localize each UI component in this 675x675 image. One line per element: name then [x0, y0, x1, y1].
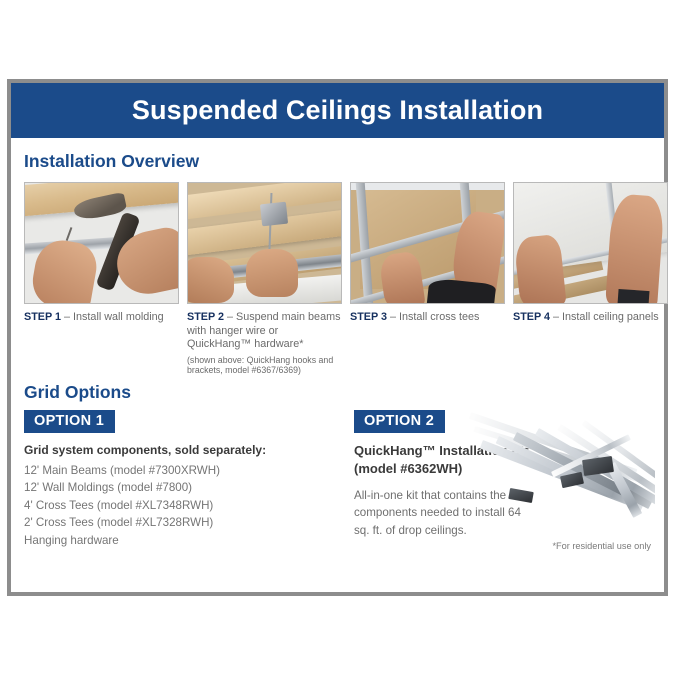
option-2-column: OPTION 2 QuickHang™ Installation Kit (mo… [354, 410, 651, 550]
step-2-dash: – [224, 311, 236, 323]
step-4-caption: STEP 4 – Install ceiling panels [513, 311, 668, 325]
step-column-4: STEP 4 – Install ceiling panels [513, 182, 668, 376]
quickhang-kit-photo [465, 406, 655, 528]
step-2-subnote: (shown above: QuickHang hooks and bracke… [187, 355, 342, 376]
list-item: 2' Cross Tees (model #XL7328RWH) [24, 514, 354, 532]
step-2-label: STEP 2 [187, 311, 224, 323]
step-1-label: STEP 1 [24, 311, 61, 323]
list-item: 12' Main Beams (model #7300XRWH) [24, 462, 354, 480]
step-4-photo [513, 182, 668, 304]
step-1-photo [24, 182, 179, 304]
step-4-label: STEP 4 [513, 311, 550, 323]
page-title: Suspended Ceilings Installation [132, 95, 543, 126]
list-item: 4' Cross Tees (model #XL7348RWH) [24, 497, 354, 515]
option-1-badge: OPTION 1 [24, 410, 115, 433]
step-column-1: STEP 1 – Install wall molding [24, 182, 179, 376]
option-1-subheading: Grid system components, sold separately: [24, 443, 354, 457]
page-root: Suspended Ceilings Installation Installa… [0, 0, 675, 675]
step-1-text: Install wall molding [73, 311, 164, 323]
step-3-caption: STEP 3 – Install cross tees [350, 311, 505, 325]
step-3-label: STEP 3 [350, 311, 387, 323]
option-1-column: OPTION 1 Grid system components, sold se… [24, 410, 354, 550]
option-1-component-list: 12' Main Beams (model #7300XRWH) 12' Wal… [24, 462, 354, 550]
header-bar: Suspended Ceilings Installation [11, 83, 664, 138]
step-1-dash: – [61, 311, 73, 323]
step-column-3: STEP 3 – Install cross tees [350, 182, 505, 376]
card-body: Installation Overview [11, 138, 664, 592]
list-item: Hanging hardware [24, 532, 354, 550]
grid-options-section: Grid Options OPTION 1 Grid system compon… [24, 382, 651, 550]
step-2-caption: STEP 2 – Suspend main beams with hanger … [187, 311, 342, 376]
steps-row: STEP 1 – Install wall molding [24, 182, 651, 376]
residential-use-footnote: *For residential use only [552, 541, 651, 551]
step-3-text: Install cross tees [399, 311, 479, 323]
step-2-photo [187, 182, 342, 304]
step-column-2: STEP 2 – Suspend main beams with hanger … [187, 182, 342, 376]
options-columns: OPTION 1 Grid system components, sold se… [24, 410, 651, 550]
step-3-photo [350, 182, 505, 304]
installation-overview-heading: Installation Overview [24, 151, 651, 172]
step-4-text: Install ceiling panels [562, 311, 659, 323]
step-4-dash: – [550, 311, 562, 323]
grid-options-heading: Grid Options [24, 382, 651, 403]
option-2-badge: OPTION 2 [354, 410, 445, 433]
step-3-dash: – [387, 311, 399, 323]
step-1-caption: STEP 1 – Install wall molding [24, 311, 179, 325]
infographic-card: Suspended Ceilings Installation Installa… [7, 79, 668, 596]
list-item: 12' Wall Moldings (model #7800) [24, 479, 354, 497]
